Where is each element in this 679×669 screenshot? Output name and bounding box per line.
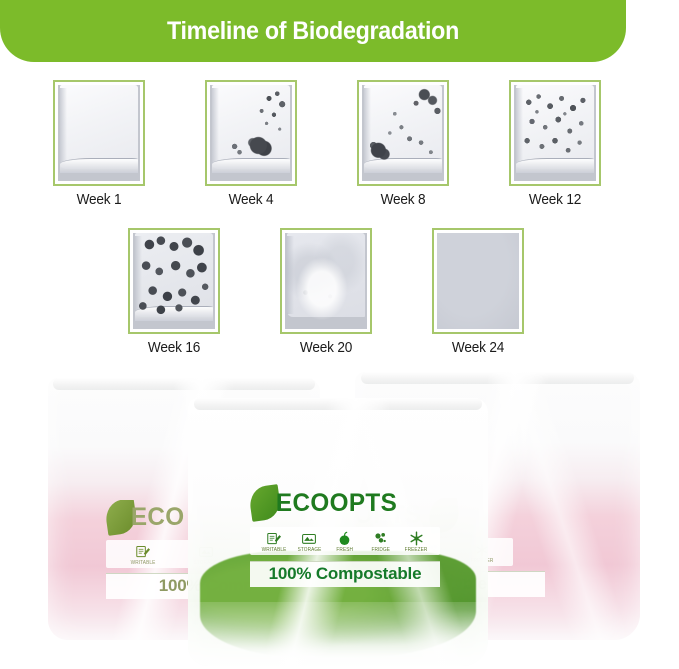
feature-fresh: FRESH: [327, 531, 363, 553]
timeline-item-week-8[interactable]: Week 8: [357, 80, 449, 208]
timeline-item-week-24[interactable]: Week 24: [432, 228, 524, 356]
writable-icon: [265, 531, 282, 546]
sample-image-week-1: [58, 85, 140, 181]
bag-label-center: ECOOPTS WRITABLE STORAGE: [250, 486, 440, 587]
thumbnail-frame: [128, 228, 220, 334]
thumbnail-frame: [432, 228, 524, 334]
sample-image-week-24: [437, 233, 519, 329]
thumbnail-frame: [280, 228, 372, 334]
feature-freezer: FREEZER: [398, 531, 434, 553]
sample-image-week-20: [285, 233, 367, 329]
brand-row: ECOOPTS: [250, 486, 440, 520]
timeline-label: Week 12: [512, 192, 598, 208]
feature-label: FRIDGE: [371, 547, 390, 553]
timeline-item-week-12[interactable]: Week 12: [509, 80, 601, 208]
feature-writable: WRITABLE: [112, 544, 175, 566]
feature-writable: WRITABLE: [256, 531, 292, 553]
sample-image-week-4: [210, 85, 292, 181]
thumbnail-frame: [205, 80, 297, 186]
product-photo: ECO WRITABLE STORAGE: [0, 360, 679, 669]
thumbnail-frame: [357, 80, 449, 186]
feature-label: STORAGE: [297, 547, 321, 553]
timeline-label: Week 1: [56, 192, 142, 208]
timeline-label: Week 24: [435, 340, 521, 356]
thumbnail-frame: [53, 80, 145, 186]
feature-label: WRITABLE: [261, 547, 286, 553]
feature-fridge: FRIDGE: [363, 531, 399, 553]
fridge-icon: [372, 531, 389, 546]
storage-icon: [301, 531, 318, 546]
feature-label: WRITABLE: [131, 560, 156, 566]
timeline-item-week-1[interactable]: Week 1: [53, 80, 145, 208]
timeline-label: Week 8: [360, 192, 446, 208]
timeline-item-week-16[interactable]: Week 16: [128, 228, 220, 356]
brand-name: ECOOPTS: [276, 489, 397, 518]
feature-storage: STORAGE: [292, 531, 328, 553]
timeline-label: Week 16: [131, 340, 217, 356]
feature-strip: WRITABLE STORAGE FRESH: [250, 527, 440, 555]
feature-label: FRESH: [337, 547, 354, 553]
page-title: Timeline of Biodegradation: [167, 17, 459, 46]
thumbnail-frame: [509, 80, 601, 186]
timeline-item-week-4[interactable]: Week 4: [205, 80, 297, 208]
timeline-label: Week 4: [208, 192, 294, 208]
claim-text: 100% Compostable: [269, 564, 422, 583]
feature-label: FREEZER: [405, 547, 428, 553]
sample-image-week-16: [133, 233, 215, 329]
writable-icon: [135, 544, 152, 559]
zipper-seal: [361, 372, 635, 384]
timeline-label: Week 20: [283, 340, 369, 356]
timeline-item-week-20[interactable]: Week 20: [280, 228, 372, 356]
biodegradation-timeline-page: Timeline of Biodegradation Week 1 Week 4…: [0, 0, 679, 669]
brand-name: ECO: [131, 503, 185, 532]
fresh-icon: [336, 531, 353, 546]
claim-strip: 100% Compostable: [250, 561, 440, 587]
freezer-icon: [408, 531, 425, 546]
zipper-seal: [194, 398, 482, 410]
product-bag-center[interactable]: ECOOPTS WRITABLE STORAGE: [188, 398, 488, 666]
header-banner: Timeline of Biodegradation: [0, 0, 626, 62]
zipper-seal: [53, 378, 314, 390]
sample-image-week-12: [514, 85, 596, 181]
sample-image-week-8: [362, 85, 444, 181]
